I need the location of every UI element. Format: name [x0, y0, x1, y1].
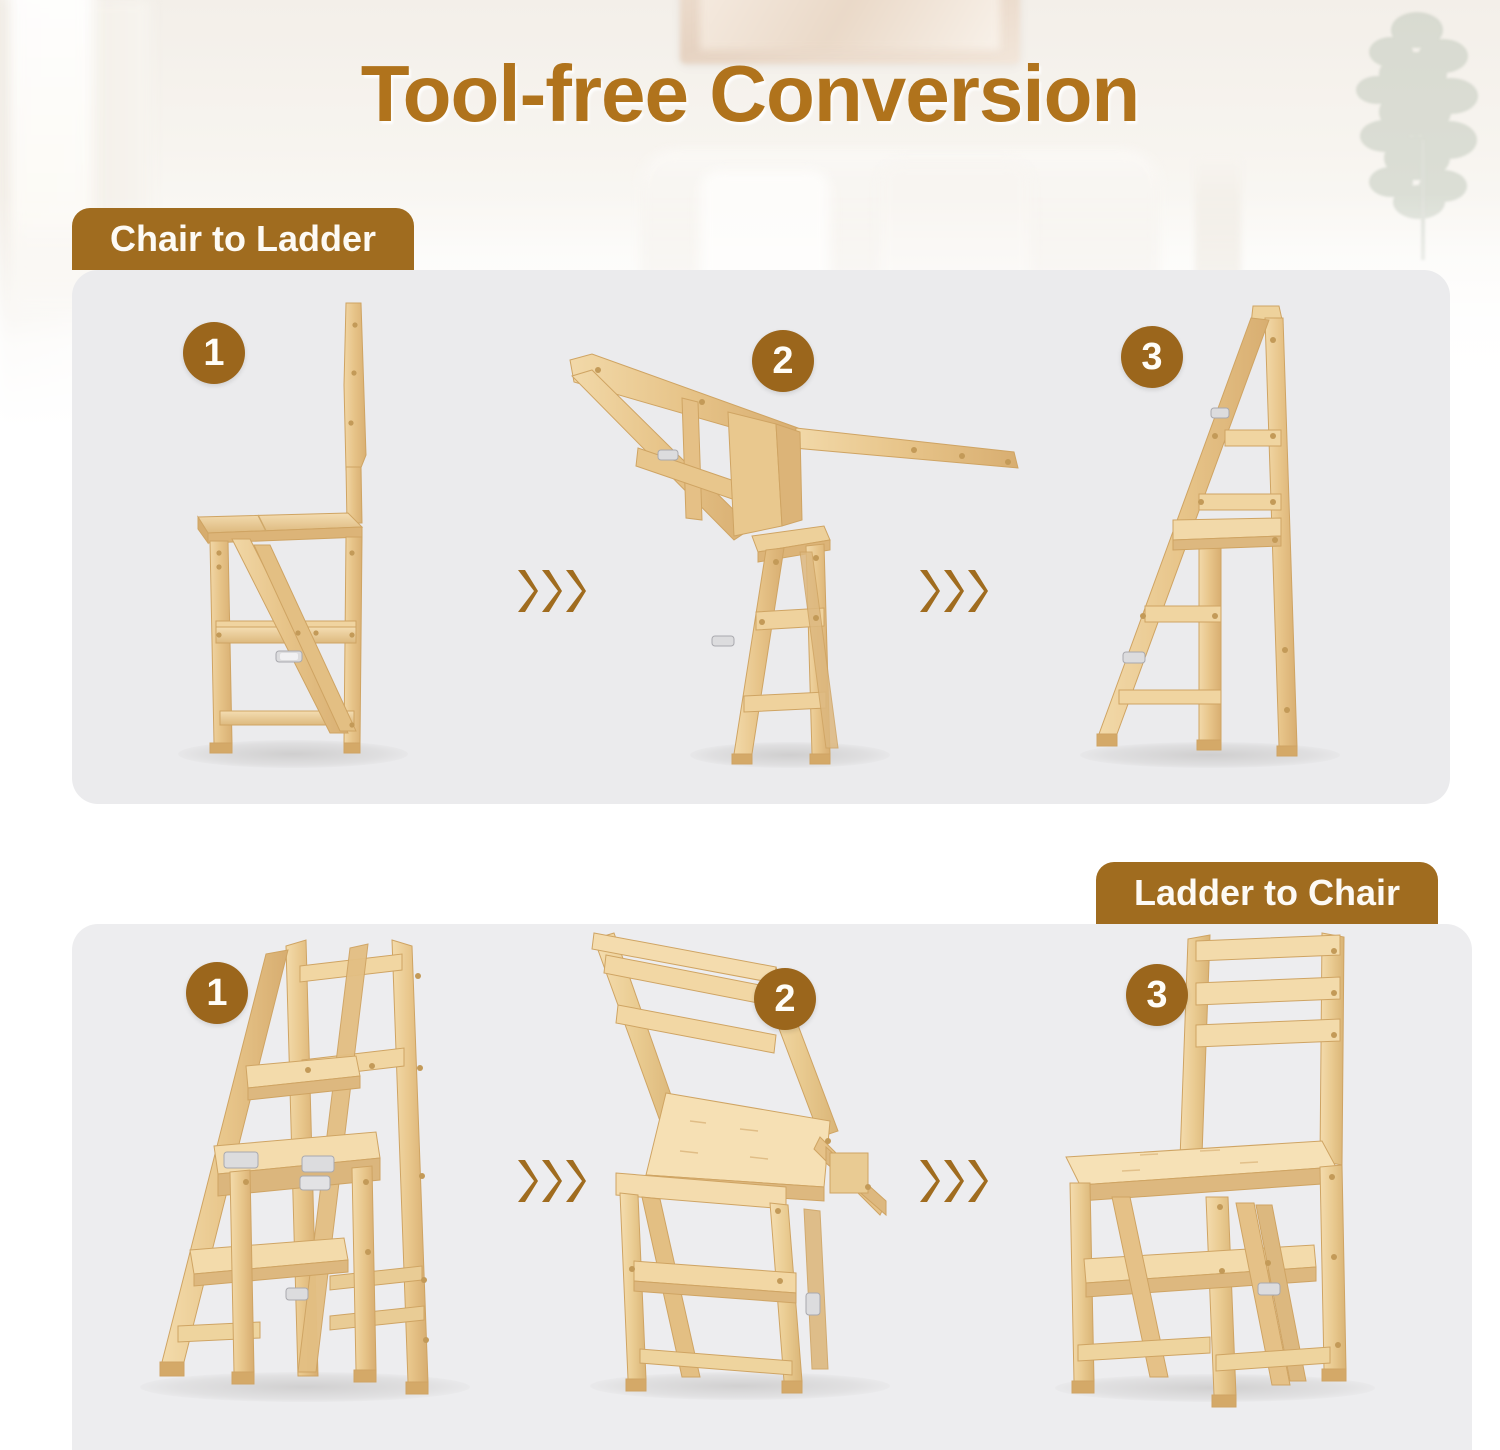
illustration-chair-mid-fold [580, 925, 920, 1405]
chevron-right-icon [966, 568, 988, 614]
chevron-right-icon [564, 1158, 586, 1204]
illustration-ladder-side-view [1075, 290, 1375, 770]
section-badge-chair-to-ladder: Chair to Ladder [72, 208, 414, 270]
step-number-2-chair-to-ladder: 2 [752, 330, 814, 392]
chevron-right-icon [516, 568, 538, 614]
chevron-right-icon [966, 1158, 988, 1204]
chevron-right-icon [942, 1158, 964, 1204]
infographic-page: Tool-free Conversion Chair to Ladder 1 2… [0, 0, 1500, 1450]
illustration-chair-mid-conversion [552, 340, 1032, 770]
step-number-1-ladder-to-chair: 1 [186, 962, 248, 1024]
chevron-right-icon [564, 568, 586, 614]
step-number-3-chair-to-ladder: 3 [1121, 326, 1183, 388]
step-number-3-ladder-to-chair: 3 [1126, 964, 1188, 1026]
step-number-2-ladder-to-chair: 2 [754, 968, 816, 1030]
arrow-chevrons-2a [516, 1158, 586, 1204]
illustration-chair-perspective [1050, 915, 1410, 1415]
page-title: Tool-free Conversion [0, 46, 1500, 142]
arrow-chevrons-1a [516, 568, 586, 614]
arrow-chevrons-1b [918, 568, 988, 614]
chevron-right-icon [918, 568, 940, 614]
arrow-chevrons-2b [918, 1158, 988, 1204]
chevron-right-icon [516, 1158, 538, 1204]
chevron-right-icon [942, 568, 964, 614]
chevron-right-icon [540, 1158, 562, 1204]
step-number-1-chair-to-ladder: 1 [183, 322, 245, 384]
chevron-right-icon [918, 1158, 940, 1204]
chevron-right-icon [540, 568, 562, 614]
